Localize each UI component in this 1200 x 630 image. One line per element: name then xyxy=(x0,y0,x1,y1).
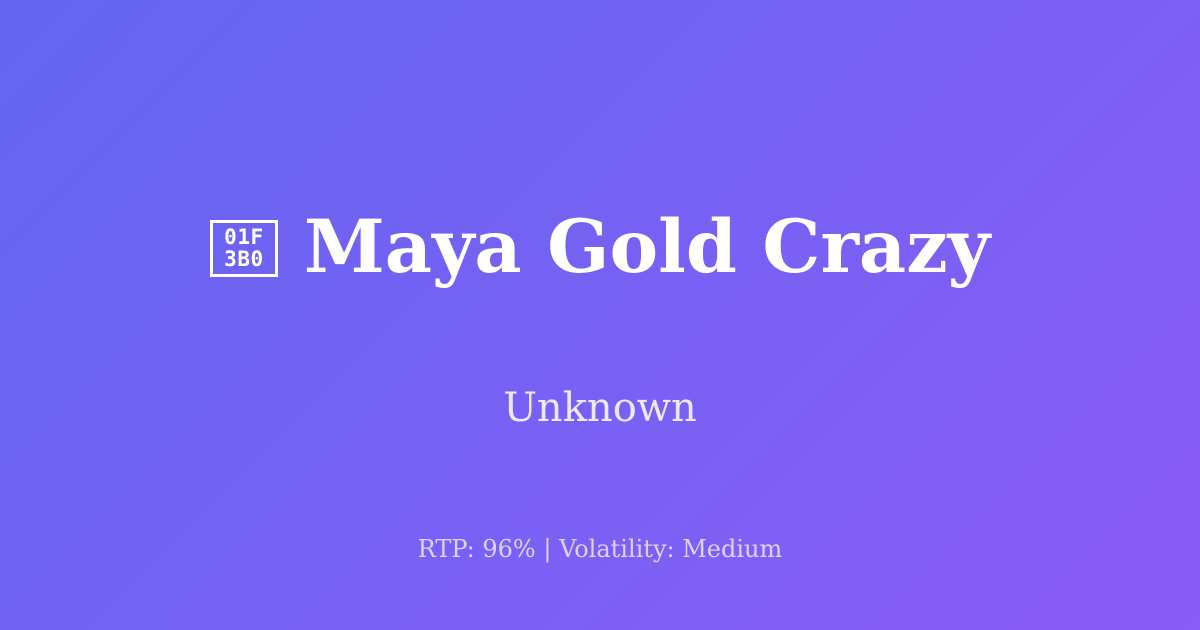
slot-machine-icon: 01F 3B0 xyxy=(210,220,278,277)
slot-machine-icon-codepoint-bottom: 3B0 xyxy=(224,249,263,271)
game-meta-footer: RTP: 96% | Volatility: Medium xyxy=(0,534,1200,564)
provider-name: Unknown xyxy=(503,384,697,432)
title-row: 01F 3B0 Maya Gold Crazy xyxy=(170,160,1030,335)
page-title: Maya Gold Crazy xyxy=(304,209,990,286)
slot-machine-icon-codepoint-top: 01F xyxy=(224,227,263,249)
game-preview-card: 01F 3B0 Maya Gold Crazy Unknown RTP: 96%… xyxy=(0,0,1200,630)
